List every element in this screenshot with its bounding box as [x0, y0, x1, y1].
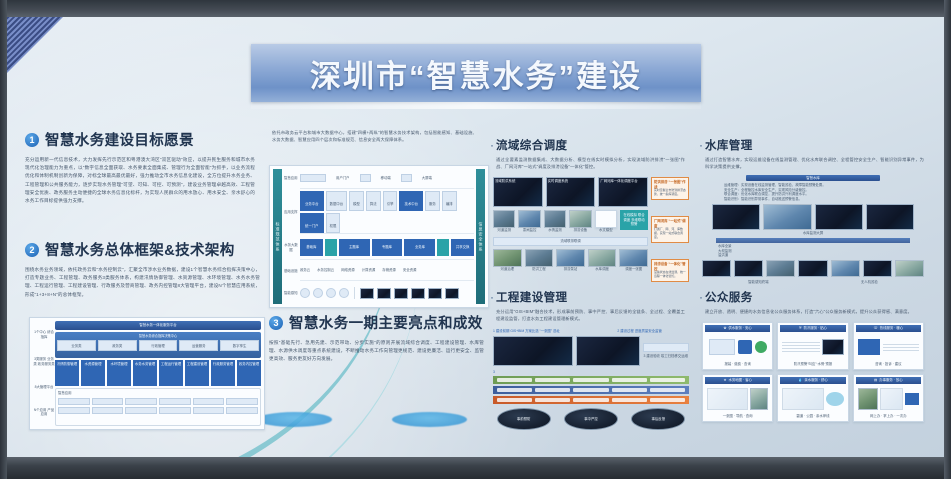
- framework-layer-label: 1个中心 综合指挥: [33, 330, 55, 339]
- service-card[interactable]: 💧 亲水服务 · 舒心 碧道 · 公园 · 亲水岸线: [777, 374, 848, 422]
- section-number-badge: 1: [25, 133, 39, 147]
- framework-layer-label: 3类服务 业务类 政务服务类: [33, 357, 55, 366]
- tech-row: 水务大数据 基础库 主题库 专题库 业务库 共享交换: [284, 236, 474, 260]
- section-3-body: 按照“基础先行、急用先建、示范带动、分步实施”的原则开展流域综合调度、工程建设管…: [269, 339, 484, 364]
- framework-platform-module: 水务水务管理: [133, 360, 157, 386]
- service-icon: ✿: [724, 326, 727, 331]
- tech-architecture-diagram: 标准规范体系 智慧应用 用户门户 移动端 大屏端 应用支撑 业务中台 数据中台 …: [269, 165, 489, 308]
- topic-body: 通过全要素监测数据集成、大数据分析、模型在线实时模拟分析，实现流域防洪排涝“一张…: [490, 156, 685, 170]
- framework-center-module: 数字孪生: [220, 340, 259, 351]
- callout: 防洪排涝 “一张图”作战 实时掌握全市防洪排涝态势，统一指挥调度。: [651, 177, 689, 200]
- board-frame-bottom: [0, 457, 951, 479]
- service-card[interactable]: ⛨ 防汛服务 · 贴心 防汛预警“叫应”·水情·预报: [777, 322, 848, 370]
- service-card[interactable]: ★ 水务地图 · 省心 一张图 · 导航 · 查询: [702, 374, 773, 422]
- reservoir-divider-bar: [716, 238, 910, 243]
- board-frame-top: [0, 0, 951, 17]
- framework-platform-module: 水资源管理: [81, 360, 105, 386]
- service-card[interactable]: ☏ 热线服务 · 暖心 咨询 · 投诉 · 建议: [853, 322, 924, 370]
- dispatch-callouts: 防洪排涝 “一张图”作战 实时掌握全市防洪排涝态势，统一指挥调度。 厂网河库 “…: [651, 177, 689, 282]
- service-card[interactable]: ✿ 供水服务 · 安心 报装 · 缴费 · 查询: [702, 322, 773, 370]
- tech-row: 基础设施 政务云 水务控制云 网络资源 计算资源 存储资源 安全资源: [284, 262, 474, 281]
- board-frame-right: [944, 0, 951, 479]
- tech-row: 智能感知: [284, 283, 474, 304]
- topic-public-service: · 公众服务 建立开放、透明、便捷的水务信息化公众服务体系，打造“六心”公众服务…: [699, 289, 924, 315]
- section-1-title: 智慧水务建设目标愿景: [45, 129, 194, 150]
- dispatch-figure: 流域防洪系统 实时调度系统 厂网河库一体化调度平台 河道监测 泵闸监控: [493, 177, 689, 282]
- phone-icon: ☏: [874, 326, 878, 331]
- title-underline: [251, 102, 701, 109]
- callout: 排涝设备 “一体化”管控 设备状态在线监测，统一远程一体化管控。: [651, 259, 689, 282]
- framework-platform-module: 汛情防御管理: [55, 360, 79, 386]
- reservoir-intro-title: 智慧水库: [746, 175, 879, 181]
- topic-title: 工程建设管理: [496, 289, 567, 305]
- reservoir-photo-strip: [702, 260, 924, 280]
- topic-watershed-dispatch: · 流域综合调度 通过全要素监测数据集成、大数据分析、模型在线实时模拟分析，实现…: [490, 137, 685, 170]
- section-2-body: 围绕水务业务领域，依托政务云和“水务控制云”，汇聚全市涉水业务数据，建设1个智慧…: [25, 266, 260, 299]
- framework-platform-module: 水环境管理: [107, 360, 131, 386]
- topic-body: 建立开放、透明、便捷的水务信息化公众服务体系，打造“六心”公众服务新模式，提升公…: [699, 308, 924, 315]
- tech-row: 智慧应用 用户门户 移动端 大屏端: [284, 169, 474, 189]
- construction-figure: 1 建设前期 GIS+BIM 方案比选 “一张图” 选址 2 建设过程 进度质量…: [493, 329, 689, 434]
- bullet-dot-icon: ·: [699, 290, 703, 304]
- framework-platform-module: 工程运行管理: [159, 360, 183, 386]
- public-service-cards: ✿ 供水服务 · 安心 报装 · 缴费 · 查询 ⛨ 防汛服务 · 贴心: [702, 322, 924, 422]
- section-1-body: 充分运用新一代信息技术，大力发挥先行示范区和粤港澳大湾区“双区驱动”效应，以提升…: [25, 156, 255, 205]
- topic-title: 流域综合调度: [496, 137, 567, 153]
- reservoir-figure: 智慧水库 运维管理：实现设备在线监测管理、智能巡检、故障智能预警处置。 安全生产…: [702, 175, 924, 283]
- construction-layer-row: [493, 386, 689, 394]
- construction-node: 事后反馈: [631, 408, 685, 430]
- dispatch-bottom-photos: 河道治理 防洪工程 排涝泵站 水库调度 调度一张图: [493, 249, 648, 273]
- section-number-badge: 3: [269, 316, 283, 330]
- section-3-heading: 3 智慧水务一期主要亮点和成效: [269, 312, 484, 333]
- topic-title: 水库管理: [705, 137, 753, 153]
- topic-reservoir-management: · 水库管理 通过打造智慧水库，实现运维设备在线监测管理、优化水库联合调控、全程…: [699, 137, 924, 170]
- reservoir-screens: [702, 204, 924, 230]
- framework-layer-label: N个应用 产品应用: [33, 408, 55, 417]
- construction-layer-row: [493, 396, 689, 404]
- section-2-heading: 2 智慧水务总体框架&技术架构: [25, 239, 260, 260]
- callout: 厂网河库 “一站式”调度 打通厂、网、河、库数据，实现一站式联合调度。: [651, 216, 689, 243]
- dispatch-photos-row: 河道监测 泵闸监控 水情监测 排涝设备: [493, 210, 648, 234]
- service-card[interactable]: ▤ 办事服务 · 放心 网上办 · 掌上办 · 一次办: [853, 374, 924, 422]
- bullet-dot-icon: ·: [699, 138, 703, 152]
- construction-layer-caption: 3: [493, 370, 689, 375]
- topic-body: 通过打造智慧水库，实现运维设备在线监测管理、优化水库联合调控、全程管控安全生产、…: [699, 156, 924, 170]
- reservoir-row-labels: 水库全景 大坝监测 溢洪道: [702, 244, 924, 258]
- framework-center-module: 行政管理: [139, 340, 178, 351]
- framework-platform-module: 政务内控管理: [237, 360, 261, 386]
- framework-center-module: 运营服务: [179, 340, 218, 351]
- framework-layer-label: 8大管理平台: [35, 385, 54, 390]
- section-3: 3 智慧水务一期主要亮点和成效 按照“基础先行、急用先建、示范带动、分步实施”的…: [269, 312, 484, 364]
- section-2: 2 智慧水务总体框架&技术架构 围绕水务业务领域，依托政务云和“水务控制云”，汇…: [25, 239, 260, 299]
- section-1-heading: 1 智慧水务建设目标愿景: [25, 129, 255, 150]
- framework-diagram: 1个中心 综合指挥 3类服务 业务类 政务服务类 8大管理平台 N个应用 产品应…: [29, 317, 265, 430]
- section-3-title: 智慧水务一期主要亮点和成效: [289, 312, 483, 333]
- section-2-title: 智慧水务总体框架&技术架构: [45, 239, 235, 260]
- construction-node: 事前预防: [497, 408, 551, 430]
- board-frame-left: [0, 0, 7, 479]
- framework-platform-module: 行政服务管理: [211, 360, 235, 386]
- framework-platform-module: 工程建设管理: [185, 360, 209, 386]
- dispatch-highlight-box: 在线模拟 联合调度 多维联动预警: [620, 210, 648, 230]
- page-title: 深圳市“智慧水务”建设: [310, 51, 642, 96]
- topic-body: 充分运用“GIS+BIM”融合技术，形成事前预防、事中严控、事后反馈的全链条、全…: [490, 308, 685, 322]
- construction-node: 事中严控: [564, 408, 618, 430]
- framework-platform-row: 汛情防御管理 水资源管理 水环境管理 水务水务管理 工程运行管理 工程建设管理 …: [55, 360, 261, 386]
- construction-layers: [493, 376, 689, 404]
- construction-steps: 1 建设前期 GIS+BIM 方案比选 “一张图” 选址 2 建设过程 进度质量…: [493, 329, 689, 334]
- reservoir-bullets: 运维管理：实现设备在线监测管理、智能巡检、故障智能预警处置。 安全生产：全程管控…: [702, 183, 924, 201]
- framework-platform-title: 智慧水务一体化服务平台: [55, 321, 261, 330]
- topic-title: 公众服务: [705, 289, 753, 305]
- tech-architecture-intro: 依托市政务云平台和城市大数据中心，搭建“四横+两纵”的智慧水务技术架构，包括智能…: [272, 129, 477, 143]
- blue-blob-decoration: [257, 412, 332, 427]
- board-title-bar: 深圳市“智慧水务”建设: [251, 44, 701, 102]
- section-number-badge: 2: [25, 243, 39, 257]
- document-icon: ▤: [874, 378, 877, 383]
- framework-center-label: 智慧水务综合指挥决策中心: [57, 334, 259, 338]
- dispatch-screens-row: 流域防洪系统 实时调度系统 厂网河库一体化调度平台: [493, 177, 648, 207]
- standards-side-tab: 标准规范体系: [273, 169, 282, 304]
- section-1: 1 智慧水务建设目标愿景 充分运用新一代信息技术，大力发挥先行示范区和粤港澳大湾…: [25, 129, 255, 205]
- framework-app-group-label: 智慧应用: [58, 391, 258, 396]
- tech-row: 应用支撑 业务中台 数据中台 模型 算法 引擎 技术中台 服务 编排 统一门户 …: [284, 191, 474, 234]
- board-surface: 深圳市“智慧水务”建设 1 智慧水务建设目标愿景 充分运用新一代信息技术，大力发…: [7, 17, 944, 457]
- framework-center-module: 政务类: [98, 340, 137, 351]
- topic-construction-management: · 工程建设管理 充分运用“GIS+BIM”融合技术，形成事前预防、事中严控、事…: [490, 289, 685, 322]
- construction-nodes: 事前预防 事中严控 事后反馈: [493, 408, 689, 430]
- construction-layer-row: [493, 376, 689, 384]
- exhibition-board-photo: 深圳市“智慧水务”建设 1 智慧水务建设目标愿景 充分运用新一代信息技术，大力发…: [0, 0, 951, 479]
- reservoir-screens-label: 水库监测大屏: [702, 231, 924, 236]
- framework-center-module: 业务类: [57, 340, 96, 351]
- bullet-dot-icon: ·: [490, 290, 494, 304]
- blue-blob-decoration: [392, 412, 467, 427]
- bullet-dot-icon: ·: [490, 138, 494, 152]
- star-icon: ★: [723, 378, 726, 383]
- security-side-tab: 信息安全体系: [476, 169, 485, 304]
- water-drop-icon: 💧: [798, 378, 802, 383]
- shield-icon: ⛨: [799, 326, 802, 331]
- dispatch-bottom-label: 流域联排联调: [493, 237, 648, 246]
